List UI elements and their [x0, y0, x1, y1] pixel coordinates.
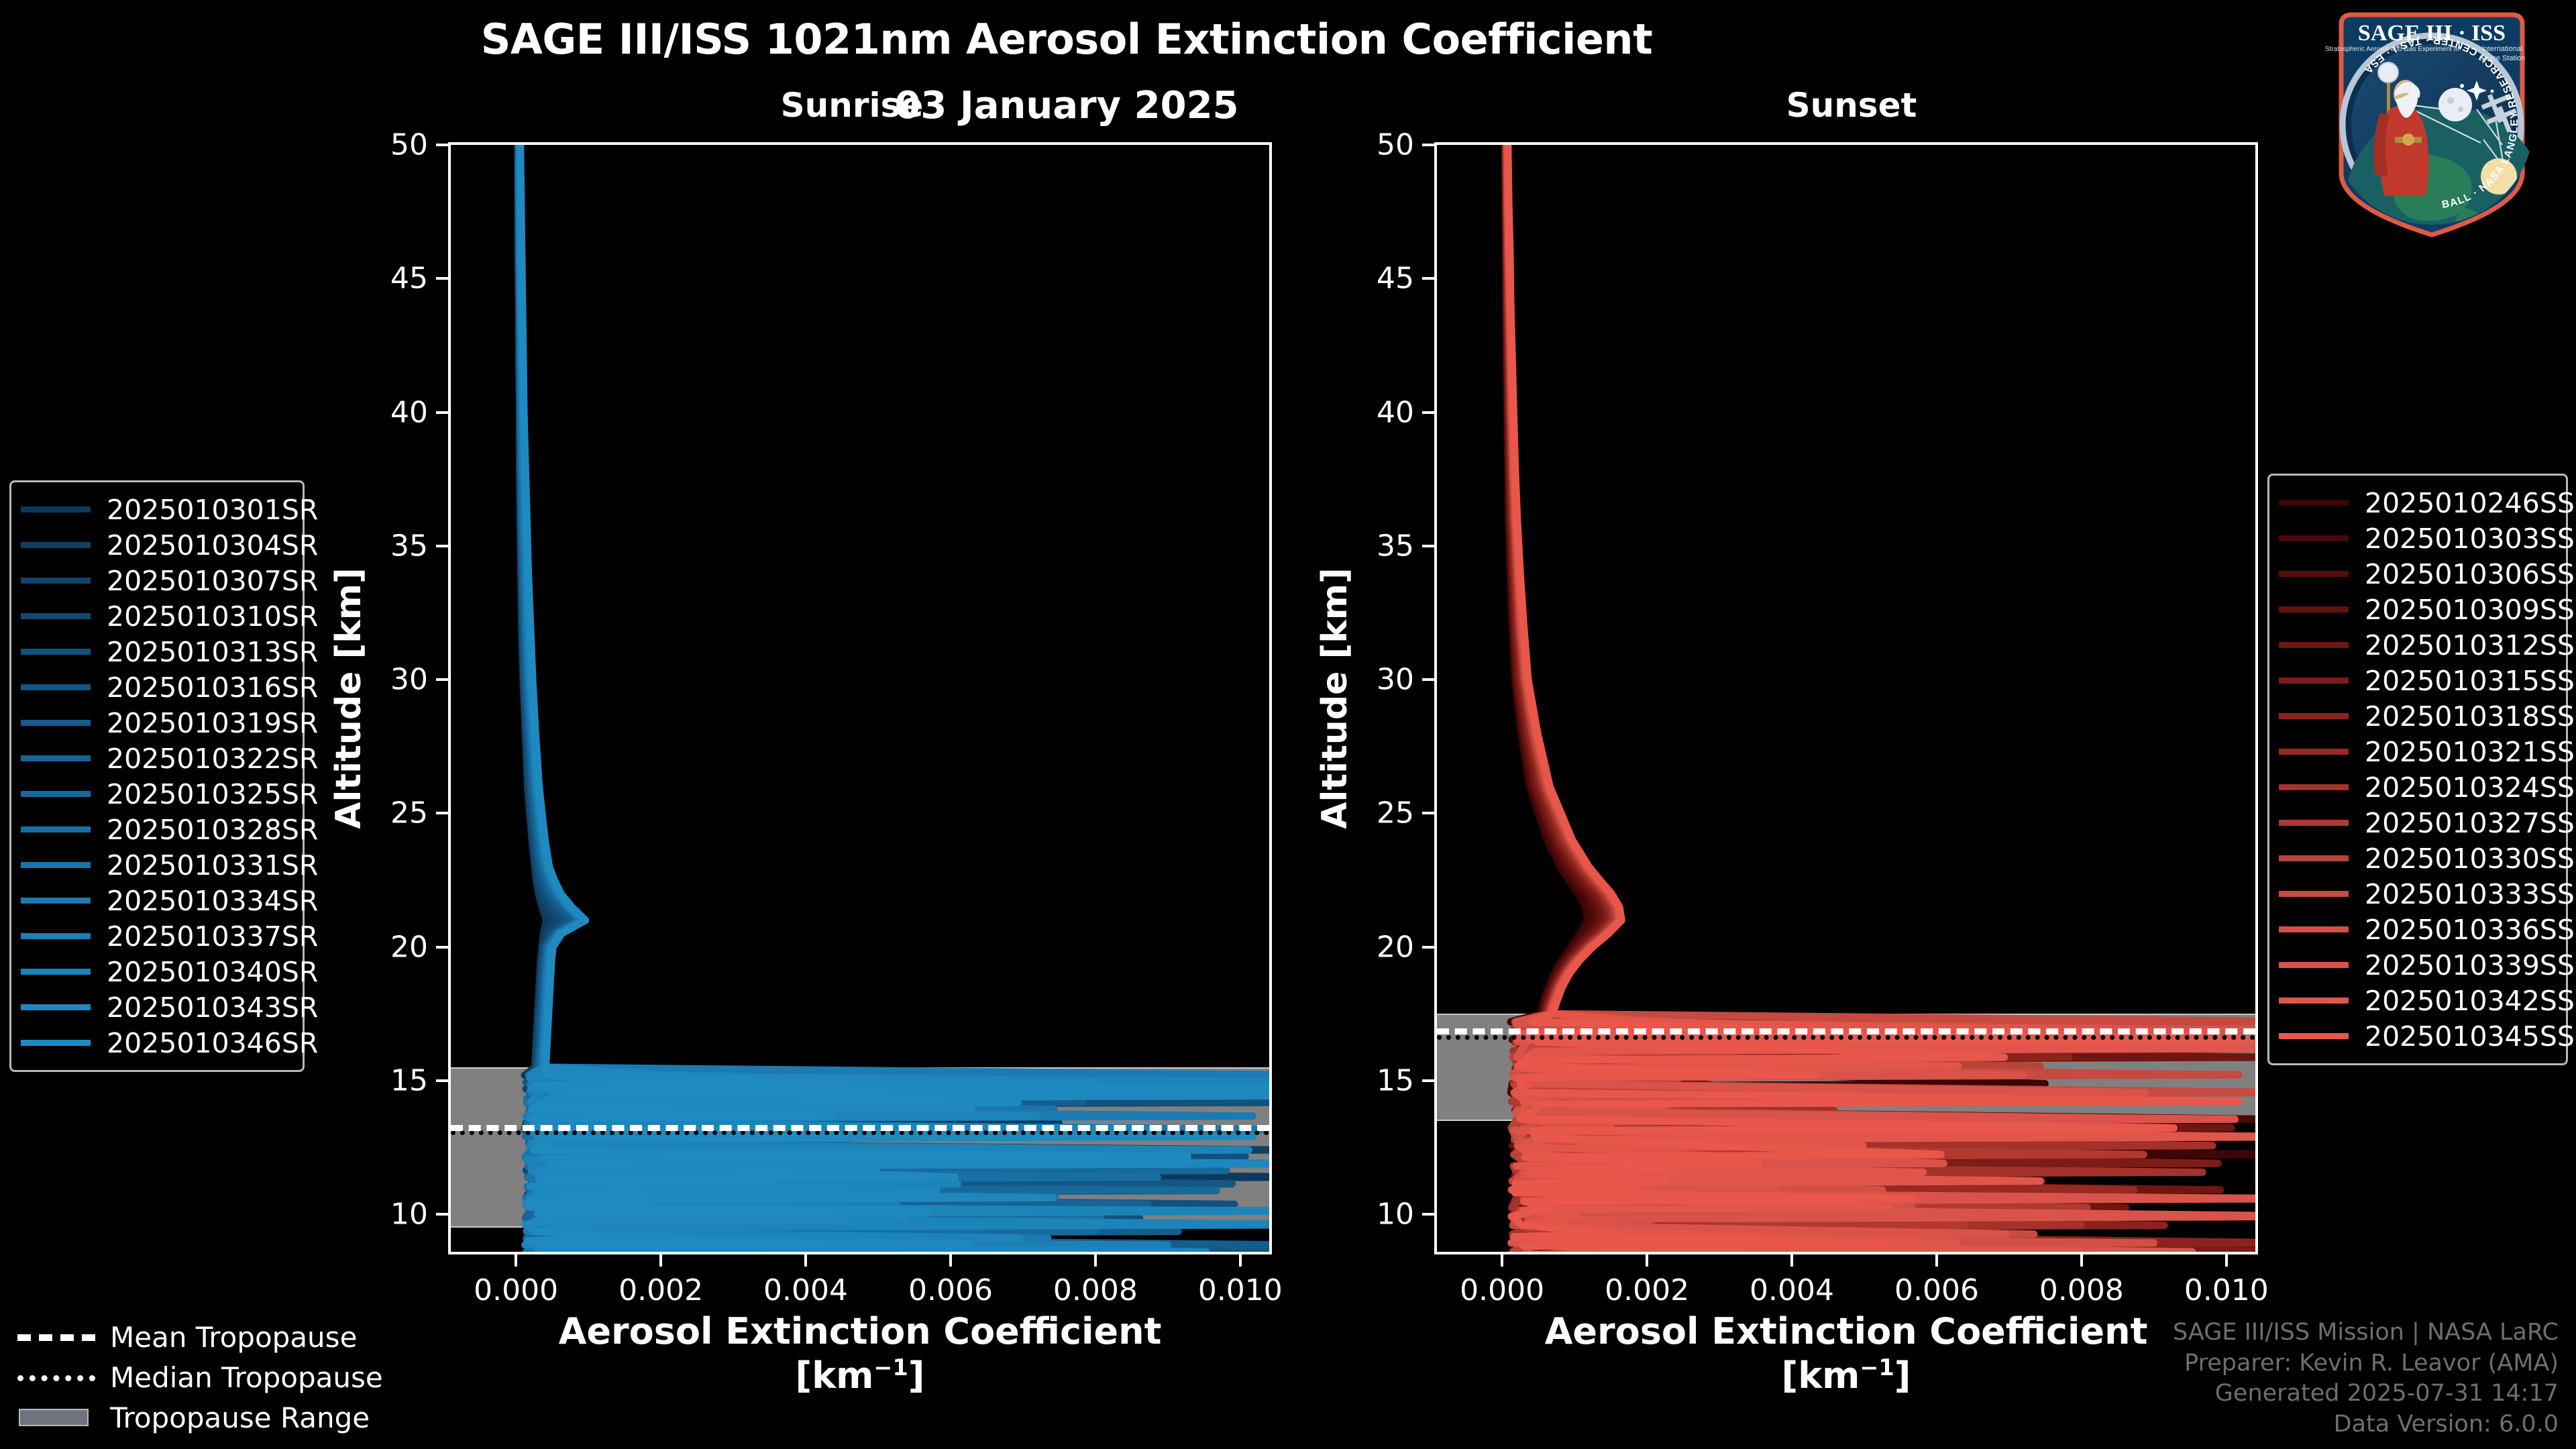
legend-label: 2025010345SS — [2365, 1020, 2575, 1053]
legend-color-swatch — [2279, 820, 2349, 826]
legend-item[interactable]: 2025010345SS — [2279, 1018, 2554, 1054]
y-tick-mark — [1422, 812, 1434, 814]
legend-label: 2025010306SS — [2365, 558, 2575, 590]
profile-curves-sunset — [1437, 145, 2255, 1252]
credit-line-generated: Generated 2025-07-31 14:17 — [2173, 1379, 2559, 1409]
legend-color-swatch — [2279, 998, 2349, 1004]
y-axis-label-sunrise: Altitude [km] — [329, 564, 369, 833]
x-tick-label: 0.004 — [1750, 1273, 1834, 1307]
legend-color-swatch — [21, 720, 91, 726]
x-tick-mark — [1501, 1254, 1503, 1267]
legend-label: 2025010325SR — [107, 778, 318, 810]
legend-label-median-tropopause: Median Tropopause — [110, 1361, 383, 1394]
profile-curves-sunrise — [451, 145, 1269, 1252]
legend-color-swatch — [2279, 642, 2349, 648]
legend-item[interactable]: 2025010319SR — [21, 705, 290, 741]
y-tick-mark — [1422, 277, 1434, 280]
y-tick-mark — [436, 678, 448, 681]
mean-tropopause-line — [451, 1125, 1269, 1131]
legend-label: 2025010313SR — [107, 636, 318, 668]
y-tick-label: 35 — [1334, 529, 1414, 563]
panel-title-sunrise: Sunrise — [664, 86, 1040, 125]
legend-label: 2025010310SR — [107, 600, 318, 633]
legend-item[interactable]: 2025010336SS — [2279, 912, 2554, 947]
x-tick-label: 0.002 — [1605, 1273, 1689, 1307]
x-tick-mark — [1094, 1254, 1097, 1267]
legend-label: 2025010246SS — [2365, 487, 2575, 519]
legend-label: 2025010312SS — [2365, 629, 2575, 661]
legend-item[interactable]: 2025010301SR — [21, 492, 290, 527]
plot-panel-sunrise — [448, 142, 1272, 1254]
legend-label-mean-tropopause: Mean Tropopause — [110, 1321, 357, 1354]
legend-label: 2025010303SS — [2365, 523, 2575, 555]
legend-color-swatch — [2279, 784, 2349, 790]
x-tick-label: 0.006 — [1894, 1273, 1979, 1307]
y-tick-label: 20 — [1334, 930, 1414, 964]
legend-label: 2025010301SR — [107, 494, 318, 526]
legend-color-swatch — [2279, 1033, 2349, 1039]
x-tick-label: 0.002 — [619, 1273, 703, 1307]
legend-label: 2025010343SR — [107, 991, 318, 1024]
x-tick-mark — [1646, 1254, 1648, 1267]
legend-item[interactable]: 2025010325SR — [21, 776, 290, 812]
legend-item-mean-tropopause: Mean Tropopause — [17, 1317, 393, 1357]
median-tropopause-line — [451, 1130, 1269, 1135]
x-tick-mark — [1239, 1254, 1242, 1267]
legend-item[interactable]: 2025010313SR — [21, 634, 290, 669]
x-tick-label: 0.000 — [1460, 1273, 1544, 1307]
legend-item[interactable]: 2025010343SR — [21, 989, 290, 1025]
legend-color-swatch — [2279, 926, 2349, 932]
x-tick-mark — [1790, 1254, 1793, 1267]
legend-color-swatch — [2279, 891, 2349, 897]
x-tick-label: 0.004 — [763, 1273, 848, 1307]
mean-tropopause-line — [1437, 1028, 2255, 1034]
legend-sunset[interactable]: 2025010246SS2025010303SS2025010306SS2025… — [2267, 474, 2568, 1065]
x-tick-mark — [2080, 1254, 2083, 1267]
legend-item[interactable]: 2025010328SR — [21, 812, 290, 847]
x-tick-mark — [515, 1254, 517, 1267]
y-tick-mark — [1422, 411, 1434, 414]
patch-subtitle-right-2: Space Station — [2479, 54, 2526, 62]
legend-item[interactable]: 2025010324SS — [2279, 769, 2554, 805]
legend-color-swatch — [21, 542, 91, 548]
y-tick-mark — [1422, 946, 1434, 949]
x-axis-label-sunset: Aerosol Extinction Coefficient [km−1] — [1434, 1309, 2258, 1398]
legend-label: 2025010319SR — [107, 707, 318, 739]
credit-line-version: Data Version: 6.0.0 — [2173, 1409, 2559, 1440]
legend-label: 2025010321SS — [2365, 736, 2575, 768]
patch-subtitle-right-1: International — [2482, 45, 2523, 53]
legend-label: 2025010328SR — [107, 814, 318, 846]
legend-color-swatch — [21, 578, 91, 584]
legend-label: 2025010339SS — [2365, 949, 2575, 981]
legend-label: 2025010346SR — [107, 1027, 318, 1059]
legend-color-swatch — [21, 684, 91, 690]
y-tick-mark — [1422, 1213, 1434, 1216]
patch-title: SAGE III · ISS — [2358, 21, 2506, 46]
y-axis-label-sunset: Altitude [km] — [1315, 564, 1355, 833]
legend-label: 2025010336SS — [2365, 914, 2575, 946]
legend-item[interactable]: 2025010339SS — [2279, 947, 2554, 983]
page-title: SAGE III/ISS 1021nm Aerosol Extinction C… — [0, 15, 2133, 64]
credit-line-preparer: Preparer: Kevin R. Leavor (AMA) — [2173, 1348, 2559, 1379]
legend-color-swatch — [2279, 571, 2349, 577]
legend-item[interactable]: 2025010304SR — [21, 527, 290, 563]
x-axis-unit: [km−1] — [1434, 1354, 2258, 1398]
sage-iii-iss-mission-patch-icon: BALL · NASA LANGLEY RESEARCH CENTER · TA… — [2301, 5, 2563, 240]
plot-panel-sunset — [1434, 142, 2258, 1254]
median-tropopause-line — [1437, 1035, 2255, 1040]
legend-color-swatch — [21, 755, 91, 761]
y-tick-mark — [436, 545, 448, 547]
legend-item[interactable]: 2025010309SS — [2279, 592, 2554, 627]
legend-item-median-tropopause: Median Tropopause — [17, 1357, 393, 1397]
legend-color-swatch — [21, 969, 91, 975]
x-tick-mark — [949, 1254, 952, 1267]
y-tick-mark — [436, 144, 448, 146]
y-tick-label: 40 — [1334, 395, 1414, 429]
y-tick-label: 35 — [347, 529, 428, 563]
legend-item[interactable]: 2025010340SR — [21, 954, 290, 989]
legend-label: 2025010331SR — [107, 849, 318, 881]
y-tick-mark — [1422, 144, 1434, 146]
y-tick-mark — [436, 812, 448, 814]
y-tick-mark — [436, 1213, 448, 1216]
legend-color-swatch — [2279, 962, 2349, 968]
patch-subtitle-left: Stratospheric Aerosol and Gas Experiment… — [2325, 46, 2459, 53]
shaded-box-icon — [17, 1407, 95, 1428]
tropopause-legend: Mean Tropopause Median Tropopause Tropop… — [17, 1317, 393, 1438]
y-tick-label: 50 — [1334, 128, 1414, 162]
y-tick-mark — [1422, 545, 1434, 547]
legend-color-swatch — [21, 1004, 91, 1010]
legend-label: 2025010309SS — [2365, 594, 2575, 626]
x-axis-label-text: Aerosol Extinction Coefficient — [559, 1310, 1162, 1352]
legend-label: 2025010315SS — [2365, 665, 2575, 697]
x-tick-label: 0.008 — [2039, 1273, 2124, 1307]
legend-color-swatch — [21, 862, 91, 868]
legend-item[interactable]: 2025010315SS — [2279, 663, 2554, 698]
x-tick-mark — [804, 1254, 807, 1267]
y-tick-mark — [1422, 1079, 1434, 1082]
legend-item[interactable]: 2025010306SS — [2279, 556, 2554, 592]
legend-color-swatch — [2279, 678, 2349, 684]
legend-item[interactable]: 2025010337SR — [21, 918, 290, 954]
legend-label: 2025010304SR — [107, 529, 318, 561]
x-tick-mark — [659, 1254, 662, 1267]
y-tick-label: 40 — [347, 395, 428, 429]
legend-color-swatch — [21, 826, 91, 833]
legend-item[interactable]: 2025010316SR — [21, 669, 290, 705]
legend-label: 2025010322SR — [107, 743, 318, 775]
x-tick-mark — [2225, 1254, 2228, 1267]
legend-color-swatch — [21, 613, 91, 619]
y-tick-label: 10 — [1334, 1197, 1414, 1232]
y-tick-label: 10 — [347, 1197, 428, 1232]
y-tick-mark — [436, 277, 448, 280]
legend-item[interactable]: 2025010310SR — [21, 598, 290, 634]
credits-block: SAGE III/ISS Mission | NASA LaRC Prepare… — [2173, 1318, 2559, 1440]
legend-label: 2025010337SR — [107, 920, 318, 953]
legend-item[interactable]: 2025010321SS — [2279, 734, 2554, 769]
legend-item[interactable]: 2025010322SR — [21, 741, 290, 776]
y-tick-label: 45 — [1334, 262, 1414, 296]
y-tick-mark — [436, 946, 448, 949]
dashed-line-icon — [17, 1327, 95, 1347]
y-tick-mark — [436, 411, 448, 414]
y-tick-label: 15 — [347, 1063, 428, 1097]
x-tick-label: 0.008 — [1053, 1273, 1138, 1307]
legend-item[interactable]: 2025010307SR — [21, 563, 290, 598]
legend-color-swatch — [21, 649, 91, 655]
panel-title-sunset: Sunset — [1664, 86, 2039, 125]
legend-item[interactable]: 2025010342SS — [2279, 983, 2554, 1018]
legend-label: 2025010333SS — [2365, 878, 2575, 910]
legend-label: 2025010324SS — [2365, 771, 2575, 804]
legend-item[interactable]: 2025010327SS — [2279, 805, 2554, 841]
x-tick-label: 0.010 — [1198, 1273, 1283, 1307]
legend-color-swatch — [2279, 535, 2349, 541]
x-tick-label: 0.010 — [2184, 1273, 2269, 1307]
legend-sunrise[interactable]: 2025010301SR2025010304SR2025010307SR2025… — [9, 480, 305, 1072]
x-axis-unit: [km−1] — [448, 1354, 1272, 1398]
legend-label: 2025010307SR — [107, 565, 318, 597]
x-axis-label-sunrise: Aerosol Extinction Coefficient [km−1] — [448, 1309, 1272, 1398]
legend-color-swatch — [2279, 749, 2349, 755]
legend-label: 2025010327SS — [2365, 807, 2575, 839]
y-tick-label: 20 — [347, 930, 428, 964]
legend-item[interactable]: 2025010246SS — [2279, 485, 2554, 521]
y-tick-mark — [436, 1079, 448, 1082]
x-tick-label: 0.006 — [908, 1273, 993, 1307]
legend-label: 2025010342SS — [2365, 985, 2575, 1017]
legend-item[interactable]: 2025010331SR — [21, 847, 290, 883]
legend-item[interactable]: 2025010330SS — [2279, 841, 2554, 876]
legend-color-swatch — [21, 506, 91, 513]
legend-item[interactable]: 2025010318SS — [2279, 698, 2554, 734]
profile-line — [1508, 145, 2255, 1252]
figure-canvas: SAGE III/ISS 1021nm Aerosol Extinction C… — [0, 0, 2576, 1449]
legend-label: 2025010330SS — [2365, 843, 2575, 875]
legend-color-swatch — [2279, 713, 2349, 719]
legend-item[interactable]: 2025010346SR — [21, 1025, 290, 1061]
y-tick-mark — [1422, 678, 1434, 681]
x-tick-label: 0.000 — [474, 1273, 558, 1307]
x-tick-mark — [1935, 1254, 1938, 1267]
legend-color-swatch — [21, 1040, 91, 1046]
legend-color-swatch — [21, 791, 91, 797]
dotted-line-icon — [17, 1367, 95, 1387]
legend-item-tropopause-range: Tropopause Range — [17, 1397, 393, 1438]
profile-line — [521, 145, 1269, 1252]
legend-label: 2025010340SR — [107, 956, 318, 988]
legend-label-tropopause-range: Tropopause Range — [110, 1401, 370, 1434]
credit-line-mission: SAGE III/ISS Mission | NASA LaRC — [2173, 1318, 2559, 1348]
legend-item[interactable]: 2025010334SR — [21, 883, 290, 918]
legend-color-swatch — [21, 933, 91, 939]
x-axis-label-text: Aerosol Extinction Coefficient — [1545, 1310, 2148, 1352]
y-tick-label: 15 — [1334, 1063, 1414, 1097]
legend-item[interactable]: 2025010303SS — [2279, 521, 2554, 556]
legend-color-swatch — [21, 898, 91, 904]
legend-color-swatch — [2279, 855, 2349, 861]
y-tick-label: 50 — [347, 128, 428, 162]
legend-item[interactable]: 2025010312SS — [2279, 627, 2554, 663]
legend-color-swatch — [2279, 500, 2349, 506]
legend-label: 2025010316SR — [107, 672, 318, 704]
legend-label: 2025010318SS — [2365, 700, 2575, 733]
legend-label: 2025010334SR — [107, 885, 318, 917]
legend-color-swatch — [2279, 606, 2349, 612]
legend-item[interactable]: 2025010333SS — [2279, 876, 2554, 912]
y-tick-label: 45 — [347, 262, 428, 296]
